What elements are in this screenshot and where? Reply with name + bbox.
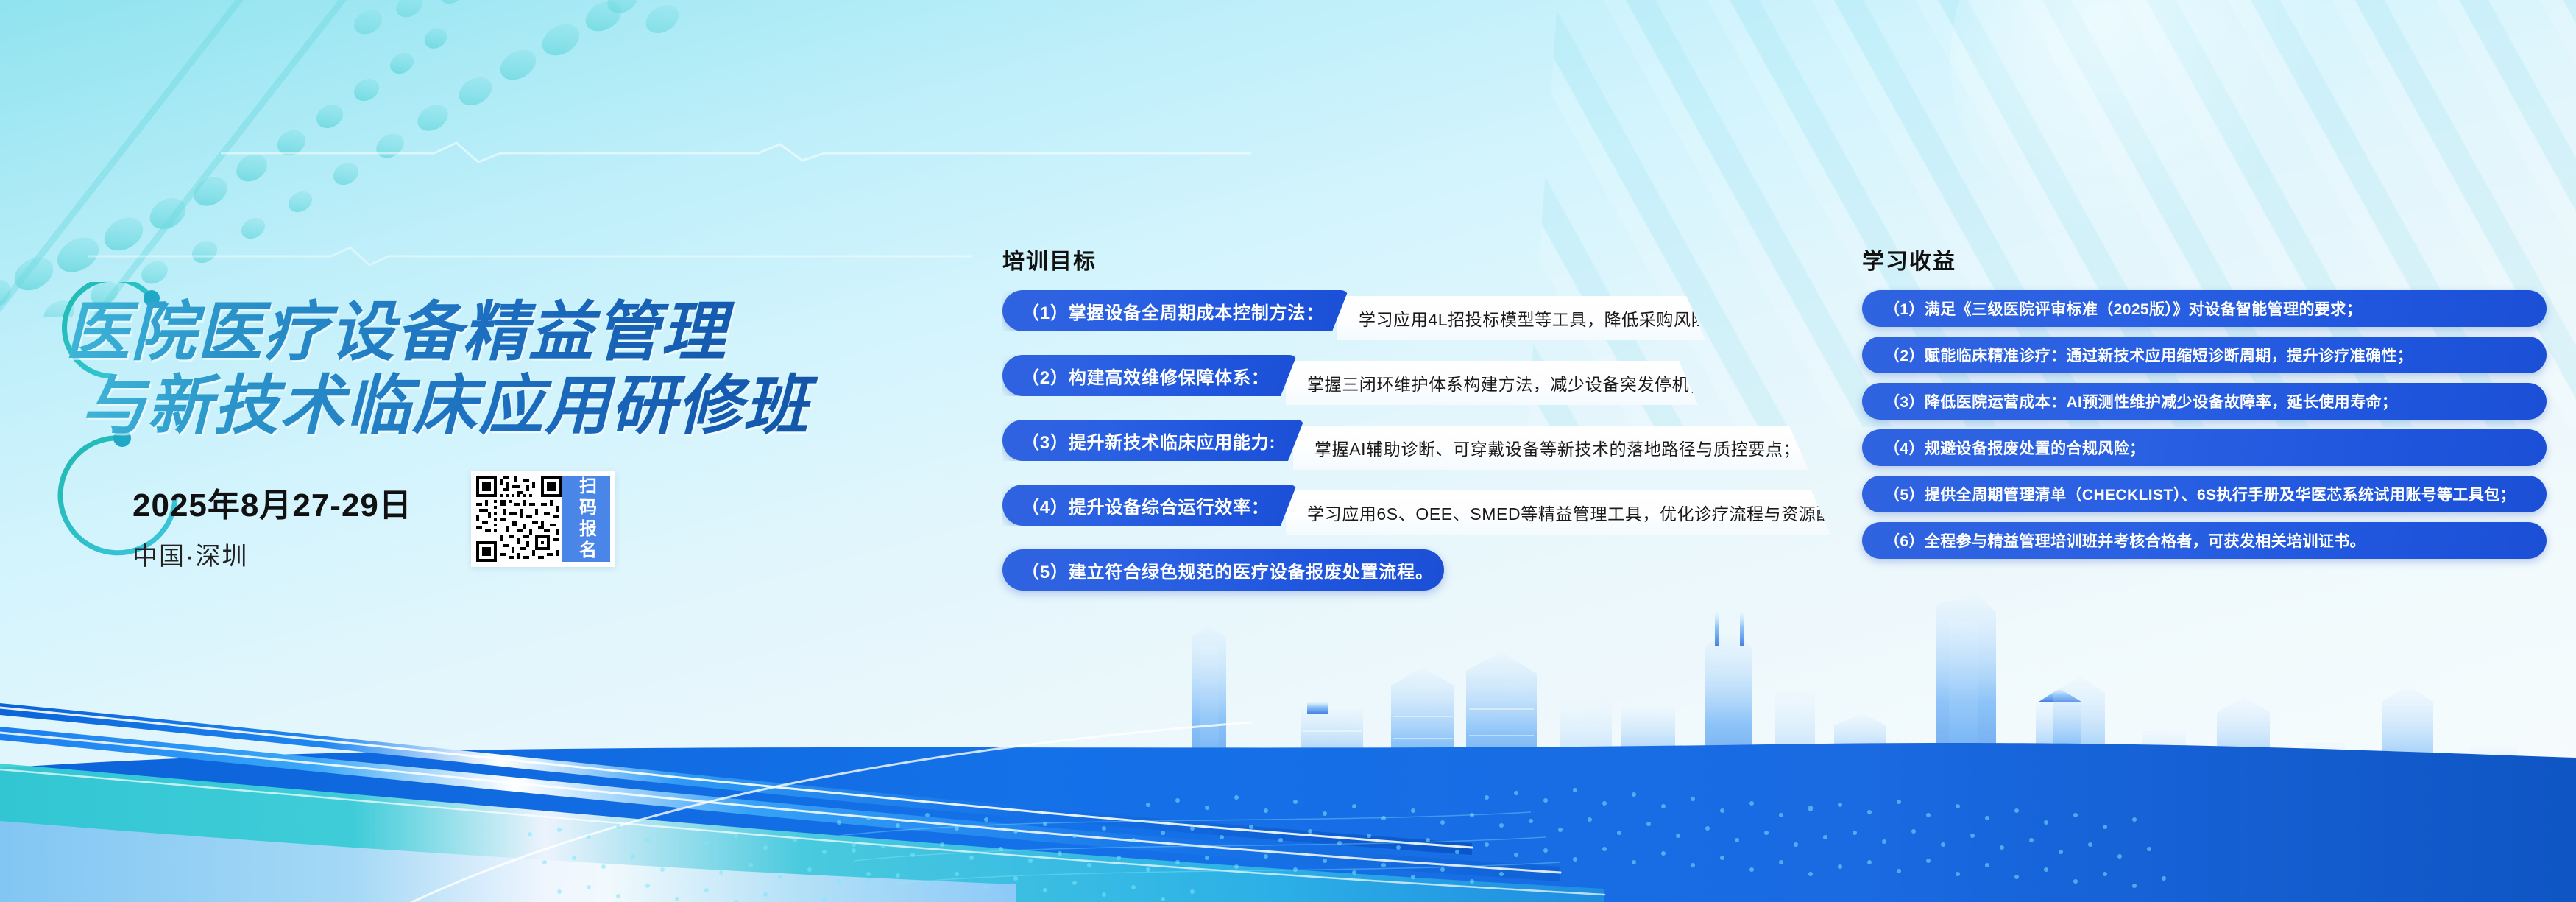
event-banner: 医院医疗设备精益管理 与新技术临床应用研修班 2025年8月27-29日 中国·… <box>0 0 2576 902</box>
qr-register-label[interactable]: 扫码报名 <box>562 476 610 562</box>
learning-gain-item[interactable]: （4）规避设备报废处置的合规风险； <box>1862 429 2547 466</box>
wave-ribbon-icon <box>0 681 2576 902</box>
training-goal-detail-text: 掌握AI辅助诊断、可穿戴设备等新技术的落地路径与质控要点； <box>1293 435 1800 460</box>
training-goal-label-pill[interactable]: （3）提升新技术临床应用能力: <box>1002 420 1304 461</box>
learning-gain-text: （6）全程参与精益管理培训班并考核合格者，可获发相关培训证书。 <box>1884 529 2366 552</box>
title-block: 医院医疗设备精益管理 与新技术临床应用研修班 <box>65 298 963 439</box>
learning-gains-list: （1）满足《三级医院评审标准（2025版）》对设备智能管理的要求；（2）赋能临床… <box>1862 290 2547 559</box>
learning-gains-heading: 学习收益 <box>1862 243 2547 275</box>
training-goals-section: 培训目标 学习应用4L招投标模型等工具，降低采购风险；（1）掌握设备全周期成本控… <box>1002 243 1827 614</box>
learning-gains-section: 学习收益 （1）满足《三级医院评审标准（2025版）》对设备智能管理的要求；（2… <box>1862 243 2547 568</box>
cityscape-icon <box>1089 591 2120 834</box>
training-goal-label-text: （2）构建高效维修保障体系： <box>1022 363 1270 389</box>
glow-highlight <box>1950 0 2333 250</box>
qr-register-block[interactable]: 扫码报名 <box>471 471 615 567</box>
training-goal-item: 掌握三闭环维护体系构建方法，减少设备突发停机；（2）构建高效维修保障体系： <box>1002 355 1827 411</box>
training-goal-detail-panel: 学习应用6S、OEE、SMED等精益管理工具，优化诊疗流程与资源配置； <box>1286 490 1830 535</box>
training-goal-item: 掌握AI辅助诊断、可穿戴设备等新技术的落地路径与质控要点；（3）提升新技术临床应… <box>1002 420 1827 476</box>
learning-gain-text: （1）满足《三级医院评审标准（2025版）》对设备智能管理的要求； <box>1884 297 2362 320</box>
training-goal-detail-text: 学习应用4L招投标模型等工具，降低采购风险； <box>1337 306 1726 331</box>
ecg-line-secondary-icon <box>88 243 972 268</box>
training-goal-label-text: （1）掌握设备全周期成本控制方法： <box>1022 298 1324 324</box>
learning-gain-text: （5）提供全周期管理清单（CHECKLIST）、6S执行手册及华医芯系统试用账号… <box>1884 483 2516 505</box>
training-goals-heading: 培训目标 <box>1002 243 1827 275</box>
learning-gain-item[interactable]: （5）提供全周期管理清单（CHECKLIST）、6S执行手册及华医芯系统试用账号… <box>1862 476 2547 512</box>
event-datebox: 2025年8月27-29日 中国·深圳 <box>132 479 412 572</box>
event-date: 2025年8月27-29日 <box>132 479 412 526</box>
training-goal-item: 学习应用6S、OEE、SMED等精益管理工具，优化诊疗流程与资源配置；（4）提升… <box>1002 485 1827 540</box>
training-goal-label-pill[interactable]: （1）掌握设备全周期成本控制方法： <box>1002 290 1348 331</box>
bottom-artwork <box>0 585 2576 902</box>
training-goal-label-pill[interactable]: （2）构建高效维修保障体系： <box>1002 355 1297 396</box>
training-goal-detail-text: 学习应用6S、OEE、SMED等精益管理工具，优化诊疗流程与资源配置； <box>1286 500 1868 525</box>
ecg-line-icon <box>221 137 1251 166</box>
learning-gain-item[interactable]: （3）降低医院运营成本：AI预测性维护减少设备故障率，延长使用寿命； <box>1862 383 2547 420</box>
training-goal-detail-panel: 学习应用4L招投标模型等工具，降低采购风险； <box>1337 296 1705 340</box>
training-goal-label-pill[interactable]: （4）提升设备综合运行效率： <box>1002 485 1297 526</box>
learning-gain-text: （2）赋能临床精准诊疗：通过新技术应用缩短诊断周期，提升诊疗准确性； <box>1884 344 2413 366</box>
learning-gain-item[interactable]: （1）满足《三级医院评审标准（2025版）》对设备智能管理的要求； <box>1862 290 2547 327</box>
learning-gain-item[interactable]: （2）赋能临床精准诊疗：通过新技术应用缩短诊断周期，提升诊疗准确性； <box>1862 337 2547 373</box>
learning-gain-text: （4）规避设备报废处置的合规风险； <box>1884 437 2145 459</box>
cityscape-secondary-icon <box>2024 650 2576 834</box>
training-goals-list: 学习应用4L招投标模型等工具，降低采购风险；（1）掌握设备全周期成本控制方法：掌… <box>1002 290 1827 605</box>
learning-gain-text: （3）降低医院运营成本：AI预测性维护减少设备故障率，延长使用寿命； <box>1884 390 2397 412</box>
page-title-line1: 医院医疗设备精益管理 <box>65 298 963 366</box>
page-title-line2: 与新技术临床应用研修班 <box>81 372 963 440</box>
training-goal-label-text: （4）提升设备综合运行效率： <box>1022 493 1270 518</box>
qr-code-icon[interactable] <box>476 476 562 562</box>
training-goal-detail-panel: 掌握AI辅助诊断、可穿戴设备等新技术的落地路径与质控要点； <box>1293 426 1808 470</box>
training-goal-item: （5）建立符合绿色规范的医疗设备报废处置流程。 <box>1002 549 1827 605</box>
event-city: 中国·深圳 <box>132 536 412 572</box>
dna-helix-icon <box>0 0 692 317</box>
training-goal-detail-text: 掌握三闭环维护体系构建方法，减少设备突发停机； <box>1286 370 1707 395</box>
training-goal-item: 学习应用4L招投标模型等工具，降低采购风险；（1）掌握设备全周期成本控制方法： <box>1002 290 1827 346</box>
learning-gain-item[interactable]: （6）全程参与精益管理培训班并考核合格者，可获发相关培训证书。 <box>1862 522 2547 559</box>
training-goal-label-text: （5）建立符合绿色规范的医疗设备报废处置流程。 <box>1022 557 1434 583</box>
training-goal-detail-panel: 掌握三闭环维护体系构建方法，减少设备突发停机； <box>1286 361 1698 405</box>
training-goal-label-text: （3）提升新技术临床应用能力: <box>1022 428 1275 454</box>
training-goal-label-pill[interactable]: （5）建立符合绿色规范的医疗设备报废处置流程。 <box>1002 549 1444 591</box>
